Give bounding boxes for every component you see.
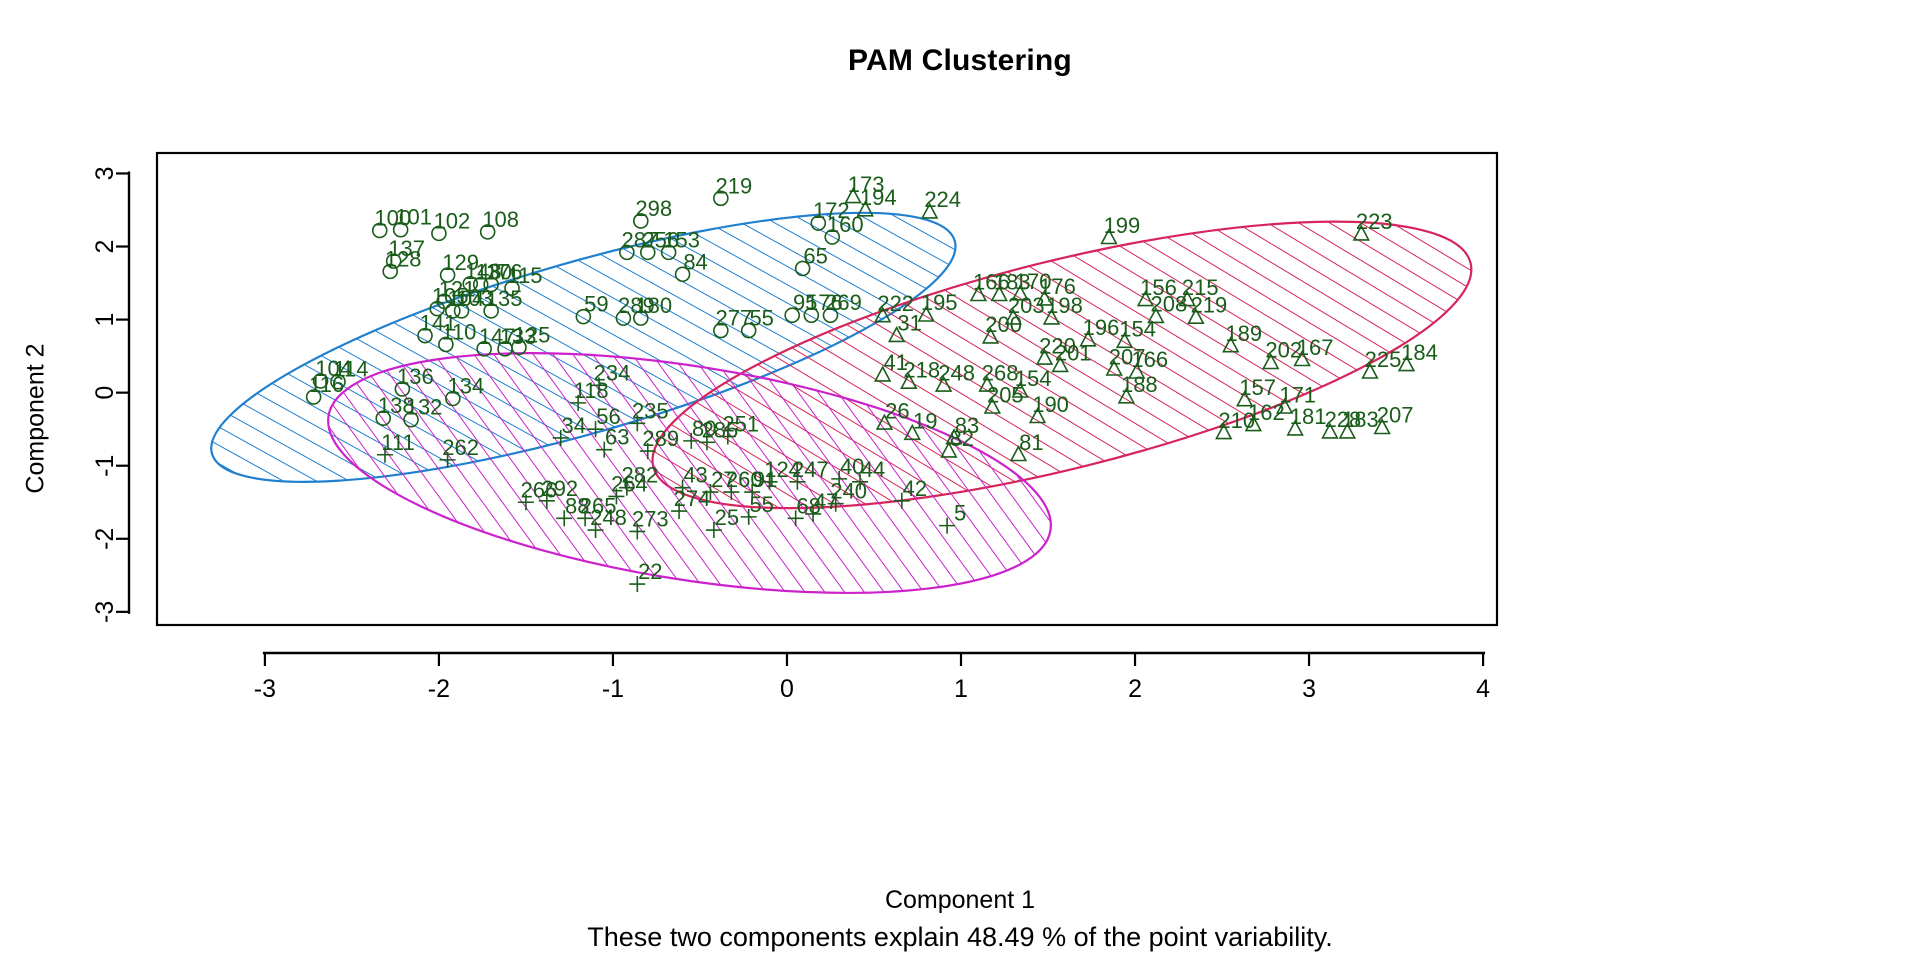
data-point-label: 196 bbox=[1083, 315, 1120, 340]
data-point-label: 136 bbox=[397, 364, 434, 389]
data-point-label: 198 bbox=[1046, 293, 1083, 318]
data-point-label: 219 bbox=[715, 173, 752, 198]
data-point-label: 118 bbox=[574, 378, 609, 403]
clusplot-figure: PAM Clustering 1001011021082982191721601… bbox=[0, 0, 1920, 960]
data-point: 102 bbox=[432, 208, 470, 240]
y-axis-title: Component 2 bbox=[22, 299, 51, 539]
data-point-label: 42 bbox=[903, 476, 927, 501]
y-axis: 3210-1-2-3 bbox=[91, 167, 129, 623]
y-tick-label: -2 bbox=[91, 528, 119, 550]
data-point-label: 251 bbox=[722, 411, 759, 436]
data-point-label: 199 bbox=[1104, 213, 1141, 238]
x-axis-title: Component 1 bbox=[0, 886, 1920, 915]
y-tick-label: -3 bbox=[91, 601, 119, 623]
data-point-label: 167 bbox=[1297, 335, 1334, 360]
data-point-label: 274 bbox=[674, 486, 711, 511]
data-point-label: 82 bbox=[950, 426, 974, 451]
data-point-label: 201 bbox=[1055, 341, 1092, 366]
data-point-label: 264 bbox=[611, 471, 648, 496]
x-tick-label: 2 bbox=[1128, 675, 1142, 703]
y-tick-label: 1 bbox=[91, 313, 119, 327]
data-point-label: 111 bbox=[381, 430, 414, 455]
data-point: 199 bbox=[1102, 213, 1141, 244]
data-point-label: 190 bbox=[1032, 392, 1069, 417]
data-point-label: 269 bbox=[825, 290, 862, 315]
data-point: 210 bbox=[1216, 408, 1255, 439]
data-point: 128 bbox=[383, 246, 421, 278]
data-point-label: 277 bbox=[715, 306, 752, 331]
data-point-label: 219 bbox=[1191, 292, 1228, 317]
x-tick-label: -3 bbox=[254, 675, 276, 703]
data-point-label: 44 bbox=[861, 457, 885, 482]
data-point-label: 135 bbox=[486, 286, 523, 311]
data-point-label: 235 bbox=[632, 398, 669, 423]
x-tick-label: 0 bbox=[780, 675, 794, 703]
data-point: 207 bbox=[1375, 403, 1414, 434]
data-point-label: 22 bbox=[638, 559, 662, 584]
data-point-label: 248 bbox=[590, 505, 627, 530]
x-tick-label: 1 bbox=[954, 675, 968, 703]
data-point-label: 108 bbox=[482, 207, 519, 232]
data-point-label: 225 bbox=[1365, 347, 1402, 372]
data-point-label: 102 bbox=[434, 208, 471, 233]
data-point-label: 55 bbox=[749, 492, 773, 517]
data-point-label: 223 bbox=[1356, 209, 1393, 234]
data-point: 181 bbox=[1288, 404, 1327, 435]
data-point-label: 184 bbox=[1401, 340, 1438, 365]
y-tick-label: 2 bbox=[91, 240, 119, 254]
data-point-label: 101 bbox=[395, 205, 432, 230]
data-point-label: 210 bbox=[1218, 408, 1255, 433]
y-tick-label: 3 bbox=[91, 167, 119, 181]
data-point: 108 bbox=[481, 207, 519, 239]
data-point-label: 181 bbox=[1290, 404, 1327, 429]
data-point-label: 55 bbox=[749, 306, 773, 331]
data-point-label: 110 bbox=[441, 319, 476, 344]
x-tick-label: 3 bbox=[1302, 675, 1316, 703]
data-point: 219 bbox=[714, 173, 752, 205]
data-point-label: 115 bbox=[507, 263, 542, 288]
data-point: 183 bbox=[1340, 407, 1379, 438]
data-point-label: 125 bbox=[514, 322, 551, 347]
data-point-label: 195 bbox=[921, 290, 958, 315]
data-point-label: 116 bbox=[309, 372, 344, 397]
data-point-label: 207 bbox=[1377, 403, 1414, 428]
data-point-label: 194 bbox=[860, 185, 897, 210]
y-tick-label: 0 bbox=[91, 386, 119, 400]
data-point-label: 25 bbox=[715, 505, 739, 530]
data-point-label: 31 bbox=[897, 311, 921, 336]
data-point-label: 34 bbox=[561, 413, 585, 438]
data-point-label: 180 bbox=[635, 293, 672, 318]
x-tick-label: 4 bbox=[1476, 675, 1490, 703]
data-point: 101 bbox=[394, 205, 432, 237]
data-point-label: 189 bbox=[1225, 321, 1262, 346]
data-point-label: 262 bbox=[442, 435, 479, 460]
data-point: 224 bbox=[922, 187, 961, 218]
data-point-label: 63 bbox=[605, 425, 629, 450]
data-point: 194 bbox=[858, 185, 897, 216]
variance-caption: These two components explain 48.49 % of … bbox=[0, 922, 1920, 953]
data-point-label: 289 bbox=[642, 426, 679, 451]
data-point-label: 166 bbox=[1131, 347, 1168, 372]
data-point: 225 bbox=[1363, 347, 1402, 378]
data-point-label: 128 bbox=[385, 246, 422, 271]
data-point-label: 183 bbox=[1342, 407, 1379, 432]
x-tick-label: -2 bbox=[428, 675, 450, 703]
data-point-label: 224 bbox=[924, 187, 961, 212]
data-point-label: 157 bbox=[1239, 375, 1276, 400]
data-point-label: 248 bbox=[938, 360, 975, 385]
data-point-label: 84 bbox=[683, 249, 707, 274]
data-point-label: 43 bbox=[683, 463, 707, 488]
data-point-label: 134 bbox=[447, 373, 484, 398]
data-point-label: 27 bbox=[711, 467, 735, 492]
data-point-label: 205 bbox=[987, 382, 1024, 407]
data-point-label: 65 bbox=[803, 243, 827, 268]
data-point-label: 40 bbox=[840, 454, 864, 479]
data-point: 298 bbox=[634, 196, 672, 228]
y-tick-label: -1 bbox=[91, 455, 119, 477]
data-point-label: 273 bbox=[632, 506, 669, 531]
data-point-label: 19 bbox=[913, 409, 937, 434]
data-point-label: 218 bbox=[903, 357, 940, 382]
plot-canvas: 1001011021082982191721601371281291481301… bbox=[0, 0, 1920, 960]
data-point-label: 59 bbox=[584, 292, 608, 317]
data-point: 184 bbox=[1399, 340, 1438, 371]
data-point-label: 298 bbox=[635, 196, 672, 221]
x-axis: -3-2-101234 bbox=[254, 653, 1490, 703]
data-point-label: 154 bbox=[1119, 317, 1156, 342]
data-point-label: 5 bbox=[954, 501, 966, 526]
data-point-label: 188 bbox=[1121, 372, 1158, 397]
x-tick-label: -1 bbox=[602, 675, 624, 703]
data-point-label: 81 bbox=[1019, 430, 1043, 455]
data-point-label: 26 bbox=[885, 398, 909, 423]
data-point-label: 208 bbox=[1151, 292, 1188, 317]
data-point-label: 132 bbox=[406, 395, 443, 420]
data-point-label: 200 bbox=[985, 312, 1022, 337]
